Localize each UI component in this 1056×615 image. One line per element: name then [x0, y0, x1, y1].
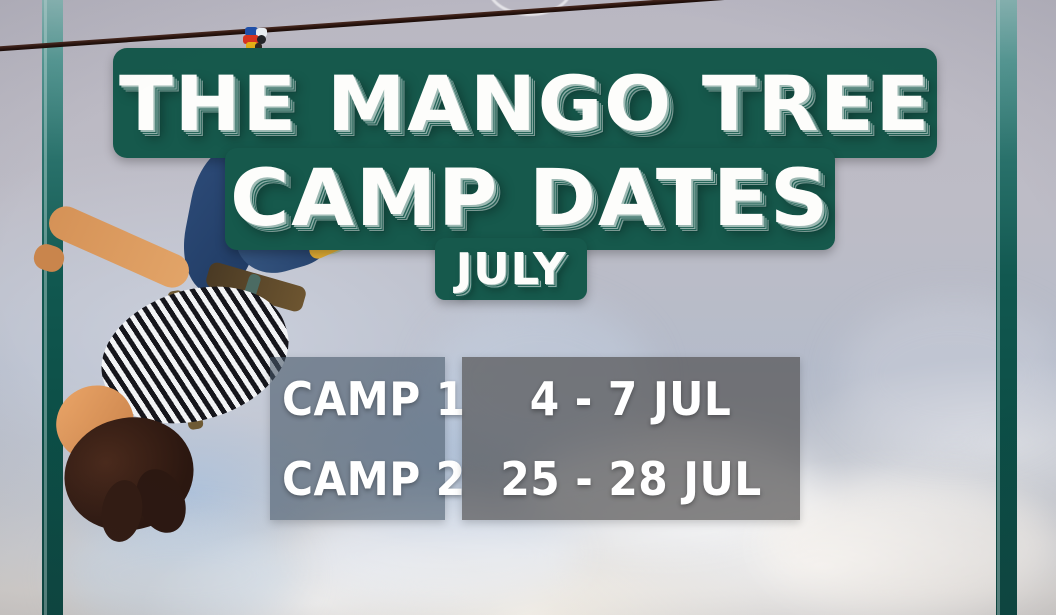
camp-date-row: 25 - 28 JUL: [500, 439, 761, 519]
headline-line2-text: CAMP DATES: [213, 148, 847, 250]
camp-label-row: CAMP 2: [282, 439, 466, 519]
right-green-pole: [996, 0, 1017, 615]
headline-banner-line2: CAMP DATES: [225, 148, 835, 250]
rider-arm: [44, 201, 195, 293]
month-badge-text: JULY: [433, 238, 588, 300]
camp-label-row: CAMP 1: [282, 359, 466, 439]
camp-dates-box: 4 - 7 JUL 25 - 28 JUL: [462, 357, 800, 520]
camp-labels-box: CAMP 1 CAMP 2: [270, 357, 445, 520]
month-badge: JULY: [435, 238, 587, 300]
headline-banner-line1: THE MANGO TREE: [113, 48, 937, 158]
camp-date-row: 4 - 7 JUL: [530, 359, 732, 439]
pole-highlight: [997, 0, 1000, 615]
headline-line1-text: THE MANGO TREE: [97, 48, 954, 158]
camp-dates-poster: THE MANGO TREE CAMP DATES JULY CAMP 1 CA…: [0, 0, 1056, 615]
